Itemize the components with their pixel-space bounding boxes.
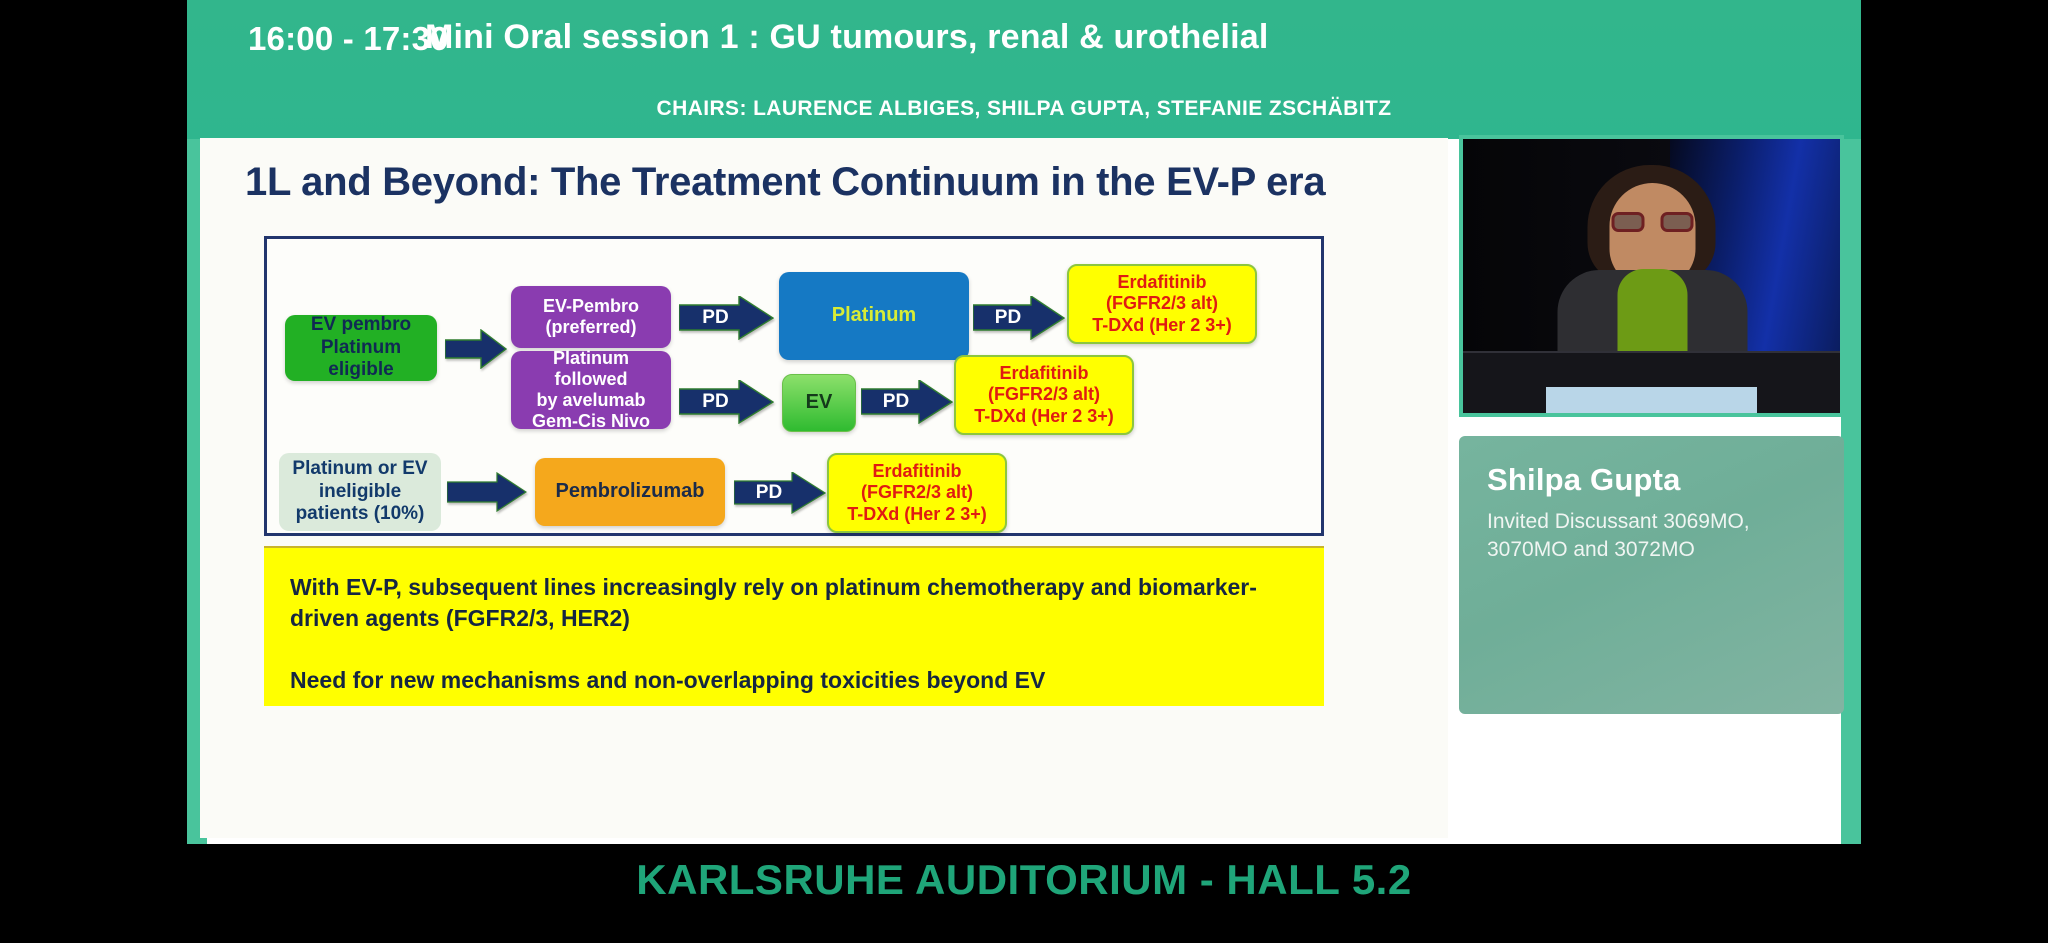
node-pembrolizumab: Pembrolizumab (535, 458, 725, 526)
session-time: 16:00 - 17:30 (248, 20, 449, 58)
session-chairs: CHAIRS: LAURENCE ALBIGES, SHILPA GUPTA, … (187, 97, 1861, 121)
arrow-row3-start-to-pembro (447, 472, 527, 512)
arrow-row1-pd2: PD (973, 296, 1065, 340)
speaker-role: Invited Discussant 3069MO, 3070MO and 30… (1487, 508, 1816, 563)
callout-line-2: Need for new mechanisms and non-overlapp… (290, 665, 1298, 696)
node-ev: EV (782, 374, 856, 432)
lectern (1463, 351, 1840, 413)
node-erdafitinib-row1: Erdafitinib (FGFR2/3 alt) T-DXd (Her 2 3… (1067, 264, 1257, 344)
arrow-row2-pd2: PD (861, 380, 953, 424)
screen: 16:00 - 17:30 Mini Oral session 1 : GU t… (0, 0, 2048, 943)
video-background (1463, 139, 1840, 413)
node-platinum: Platinum (779, 272, 969, 360)
arrow-row1-pd1: PD (679, 296, 774, 340)
speaker-video-feed[interactable] (1459, 135, 1844, 417)
callout-line-1: With EV-P, subsequent lines increasingly… (290, 572, 1298, 633)
session-title: Mini Oral session 1 : GU tumours, renal … (425, 18, 1269, 57)
slide-title: 1L and Beyond: The Treatment Continuum i… (245, 160, 1325, 205)
speaker-info-card: Shilpa Gupta Invited Discussant 3069MO, … (1459, 436, 1844, 714)
right-teal-strip (1841, 139, 1861, 844)
node-platinum-ev-ineligible: Platinum or EV ineligible patients (10%) (279, 453, 441, 531)
node-ev-pembro-platinum-eligible: EV pembro Platinum eligible (285, 315, 437, 381)
arrow-row3-pd1: PD (734, 472, 826, 514)
auditorium-banner: KARLSRUHE AUDITORIUM - HALL 5.2 (187, 856, 1861, 904)
speaker-name: Shilpa Gupta (1487, 462, 1816, 498)
node-platinum-avelumab-gemcis: Platinum followed by avelumab Gem-Cis Ni… (511, 351, 671, 429)
treatment-continuum-diagram: EV pembro Platinum eligible EV-Pembro (p… (264, 236, 1324, 536)
node-erdafitinib-row2: Erdafitinib (FGFR2/3 alt) T-DXd (Her 2 3… (954, 355, 1134, 435)
key-takeaway-callout: With EV-P, subsequent lines increasingly… (264, 546, 1324, 706)
eyeglasses-icon (1611, 212, 1693, 232)
arrow-start-to-evpembro (445, 329, 507, 369)
arrow-row2-pd1: PD (679, 380, 774, 424)
node-erdafitinib-row3: Erdafitinib (FGFR2/3 alt) T-DXd (Her 2 3… (827, 453, 1007, 533)
slide-panel[interactable]: 1L and Beyond: The Treatment Continuum i… (200, 138, 1448, 838)
speaker-figure (1549, 165, 1754, 380)
node-ev-pembro-preferred: EV-Pembro (preferred) (511, 286, 671, 348)
